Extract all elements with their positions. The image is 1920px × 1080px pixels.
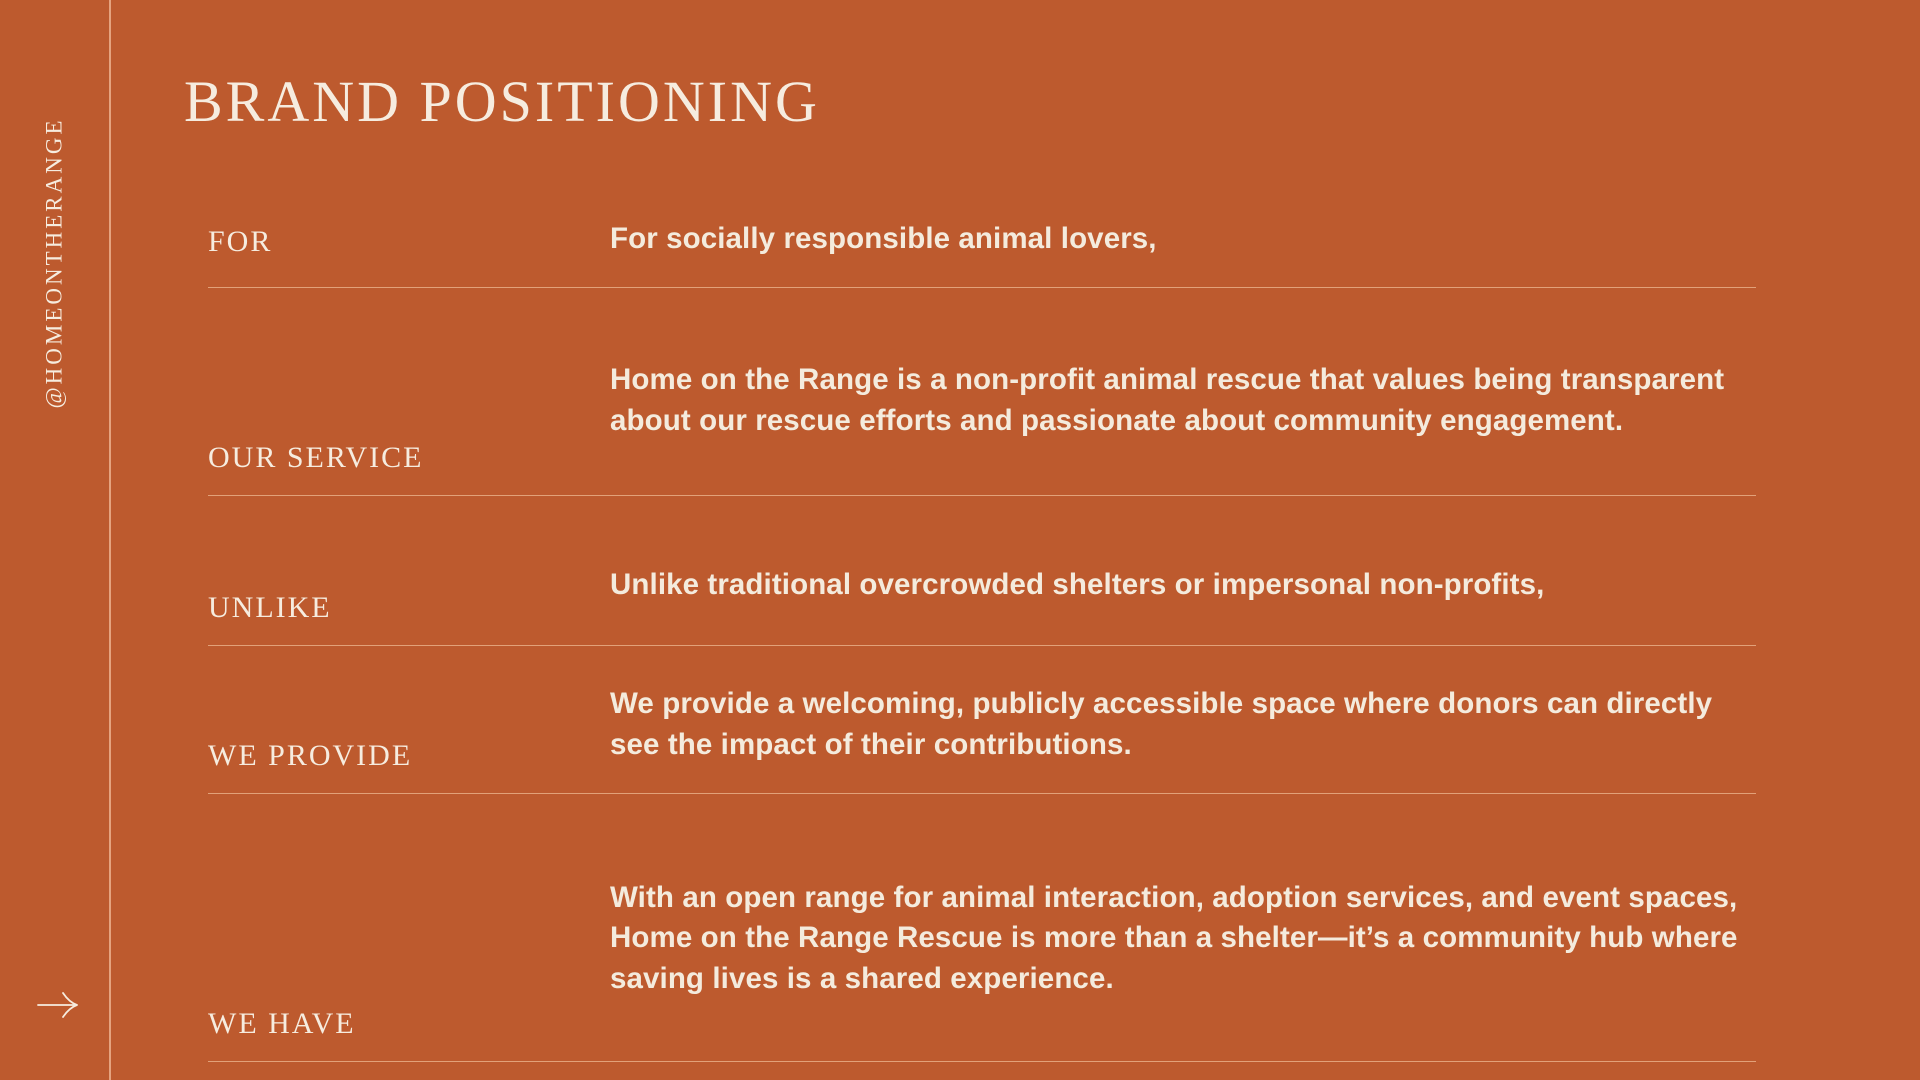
row-label-for: FOR xyxy=(208,227,610,287)
row-text-our-service: Home on the Range is a non-profit animal… xyxy=(610,354,1756,495)
row-text-for: For socially responsible animal lovers, xyxy=(610,213,1756,287)
table-row: WE HAVE With an open range for animal in… xyxy=(208,794,1756,1062)
table-row: UNLIKE Unlike traditional overcrowded sh… xyxy=(208,496,1756,646)
social-handle: @HOMEONTHERANGE xyxy=(0,60,110,480)
table-row: WE PROVIDE We provide a welcoming, publi… xyxy=(208,646,1756,794)
left-rail: @HOMEONTHERANGE xyxy=(0,0,110,1080)
row-text-we-have: With an open range for animal interactio… xyxy=(610,872,1756,1061)
row-label-we-have: WE HAVE xyxy=(208,1009,610,1061)
table-row: OUR SERVICE Home on the Range is a non-p… xyxy=(208,288,1756,496)
positioning-table: FOR For socially responsible animal love… xyxy=(208,200,1756,1062)
arrow-right-icon[interactable] xyxy=(36,988,82,1022)
page-title: BRAND POSITIONING xyxy=(184,73,820,131)
row-label-our-service: OUR SERVICE xyxy=(208,443,610,495)
row-text-we-provide: We provide a welcoming, publicly accessi… xyxy=(610,678,1756,793)
row-label-unlike: UNLIKE xyxy=(208,593,610,645)
rail-divider xyxy=(109,0,111,1080)
row-text-unlike: Unlike traditional overcrowded shelters … xyxy=(610,559,1756,645)
slide-canvas: @HOMEONTHERANGE BRAND POSITIONING FOR Fo… xyxy=(0,0,1920,1080)
row-label-we-provide: WE PROVIDE xyxy=(208,741,610,793)
table-row: FOR For socially responsible animal love… xyxy=(208,200,1756,288)
social-handle-label: @HOMEONTHERANGE xyxy=(42,117,68,408)
